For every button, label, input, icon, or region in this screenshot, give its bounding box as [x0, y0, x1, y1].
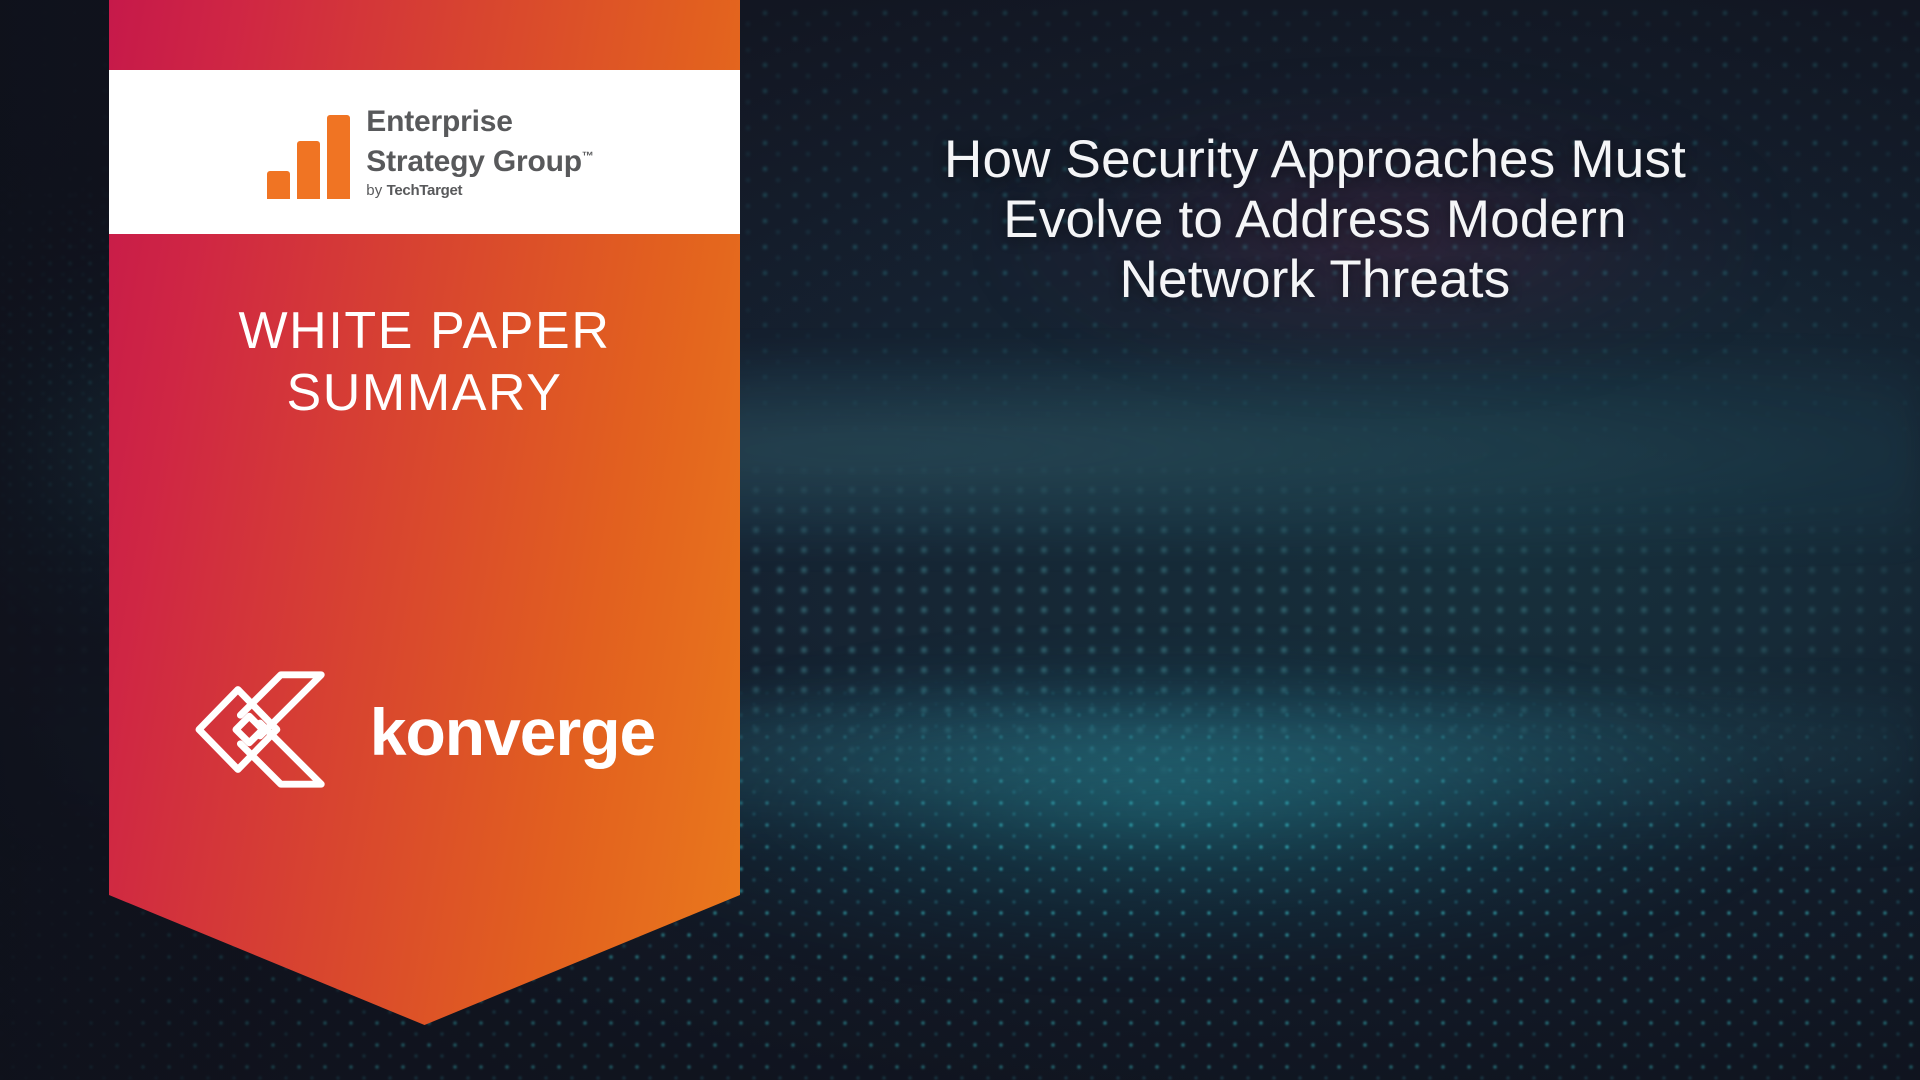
- page-title: How Security Approaches Must Evolve to A…: [760, 130, 1870, 310]
- page-title-line-2: Evolve to Address Modern: [760, 190, 1870, 250]
- document-type-label: WHITE PAPER SUMMARY: [109, 300, 740, 424]
- ribbon-banner: Enterprise Strategy Group™ by TechTarget…: [109, 0, 740, 1025]
- vendor-wordmark: konverge: [370, 699, 655, 765]
- analyst-name-line-2-text: Strategy Group: [366, 145, 582, 178]
- trademark-icon: ™: [582, 149, 594, 163]
- analyst-byline-prefix: by: [366, 182, 386, 199]
- document-type-line-2: SUMMARY: [109, 362, 740, 424]
- konverge-k-icon: [194, 660, 342, 800]
- analyst-name-line-2: Strategy Group™: [366, 139, 593, 179]
- page-title-line-1: How Security Approaches Must: [760, 130, 1870, 190]
- enterprise-strategy-group-logo: Enterprise Strategy Group™ by TechTarget: [267, 105, 593, 199]
- analyst-byline: by TechTarget: [366, 182, 593, 199]
- document-type-line-1: WHITE PAPER: [109, 300, 740, 362]
- cover-slide: Enterprise Strategy Group™ by TechTarget…: [0, 0, 1920, 1080]
- vendor-logo: konverge: [109, 660, 740, 800]
- analyst-name-line-1: Enterprise: [366, 105, 593, 139]
- bar-chart-icon: [267, 115, 350, 199]
- analyst-logo-wordmark: Enterprise Strategy Group™ by TechTarget: [366, 105, 593, 199]
- analyst-logo-card: Enterprise Strategy Group™ by TechTarget: [109, 70, 740, 234]
- page-title-line-3: Network Threats: [760, 250, 1870, 310]
- analyst-byline-brand: TechTarget: [387, 182, 463, 199]
